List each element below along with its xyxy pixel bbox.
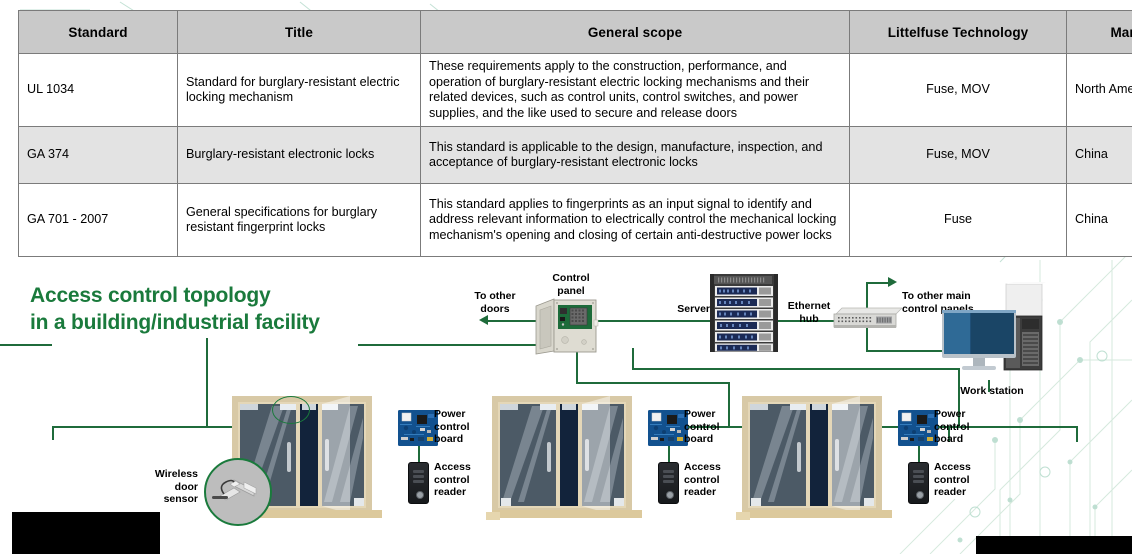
label-wireless-sensor-line1: Wireless	[132, 468, 198, 481]
access-control-reader-icon	[658, 462, 679, 504]
cell-standard: GA 701 - 2007	[19, 184, 178, 257]
wireless-door-sensor-magnifier	[204, 458, 272, 526]
wire-panel-bus-h1	[576, 382, 728, 384]
cell-standard: UL 1034	[19, 54, 178, 127]
wire-pcb1-to-reader	[418, 446, 420, 462]
label-to-other-doors-line2: doors	[460, 303, 530, 316]
label-control-panel-line1: Control	[536, 272, 606, 285]
bottom-left-black-bar	[12, 512, 160, 554]
access-control-reader-icon	[908, 462, 929, 504]
wire-left-edge-2	[358, 344, 544, 346]
column-header-general-scope: General scope	[421, 11, 850, 54]
door-assembly-2	[484, 394, 652, 522]
workstation-computer-icon	[940, 282, 1046, 382]
cell-scope: This standard is applicable to the desig…	[421, 127, 850, 184]
access-control-reader-icon	[408, 462, 429, 504]
label-reader3-line2: control	[934, 474, 994, 487]
bottom-right-black-bar	[976, 536, 1132, 554]
label-pcb3-line2: control	[934, 421, 994, 434]
access-control-topology-diagram: Access control topology in a building/in…	[0, 262, 1132, 554]
cell-title: Burglary-resistant electronic locks	[178, 127, 421, 184]
wire-door1-v	[206, 338, 208, 426]
cell-technology: Fuse, MOV	[850, 54, 1067, 127]
cell-market: North America	[1067, 54, 1132, 127]
standards-table-container: Standard Title General scope Littelfuse …	[18, 10, 1114, 257]
standards-table: Standard Title General scope Littelfuse …	[18, 10, 1132, 257]
wire-door3-to-pcb	[1076, 426, 1078, 442]
column-header-title: Title	[178, 11, 421, 54]
power-control-board-icon	[648, 410, 688, 446]
control-panel-device-icon	[532, 296, 602, 358]
cell-standard: GA 374	[19, 127, 178, 184]
table-row: GA 701 - 2007 General specifications for…	[19, 184, 1132, 257]
diagram-title: Access control topology in a building/in…	[30, 282, 400, 336]
ethernet-hub-icon	[830, 306, 902, 334]
cell-market: China	[1067, 184, 1132, 257]
label-pcb3-line1: Power	[934, 408, 994, 421]
cell-title: General specifications for burglary resi…	[178, 184, 421, 257]
diagram-title-line2: in a building/industrial facility	[30, 309, 400, 336]
wireless-door-sensor-icon	[206, 460, 266, 520]
label-wireless-door-sensor: Wireless door sensor	[132, 468, 198, 506]
wire-panel-to-server	[598, 320, 710, 322]
label-wireless-sensor-line2: door	[132, 481, 198, 494]
wire-hub-to-workstation	[866, 350, 948, 352]
cell-market: China	[1067, 127, 1132, 184]
door-assembly-3	[734, 394, 902, 522]
cell-technology: Fuse	[850, 184, 1067, 257]
table-row: GA 374 Burglary-resistant electronic loc…	[19, 127, 1132, 184]
wire-pcb2-to-reader	[668, 446, 670, 462]
wire-pcb3-to-reader	[918, 446, 920, 462]
label-reader3-line1: Access	[934, 461, 994, 474]
label-work-station: Work station	[950, 385, 1034, 398]
glass-door-icon	[484, 394, 652, 522]
label-to-other-doors: To other doors	[460, 290, 530, 315]
wire-door1-to-door	[52, 426, 54, 440]
power-control-board-icon	[398, 410, 438, 446]
label-access-control-reader-3: Access control reader	[934, 461, 994, 499]
door-lock-highlight-circle	[272, 396, 310, 424]
column-header-littelfuse-technology: Littelfuse Technology	[850, 11, 1067, 54]
wire-hub-to-arrow	[866, 282, 890, 284]
column-header-market: Market	[1067, 11, 1132, 54]
cell-scope: This standard applies to fingerprints as…	[421, 184, 850, 257]
cell-scope: These requirements apply to the construc…	[421, 54, 850, 127]
diagram-title-line1: Access control topology	[30, 282, 400, 309]
arrow-to-other-main-panels-icon	[888, 277, 897, 287]
column-header-standard: Standard	[19, 11, 178, 54]
server-rack-icon	[710, 274, 778, 352]
cell-technology: Fuse, MOV	[850, 127, 1067, 184]
table-header-row: Standard Title General scope Littelfuse …	[19, 11, 1132, 54]
wire-panel-bus-v2	[632, 348, 634, 368]
glass-door-icon	[734, 394, 902, 522]
arrow-to-other-doors-icon	[479, 315, 488, 325]
label-wireless-sensor-line3: sensor	[132, 493, 198, 506]
table-row: UL 1034 Standard for burglary-resistant …	[19, 54, 1132, 127]
label-pcb3-line3: board	[934, 433, 994, 446]
label-to-other-doors-line1: To other	[460, 290, 530, 303]
cell-title: Standard for burglary-resistant electric…	[178, 54, 421, 127]
label-reader3-line3: reader	[934, 486, 994, 499]
label-server: Server	[648, 303, 710, 316]
wire-door1-tap	[206, 338, 208, 344]
wire-left-edge	[0, 344, 52, 346]
label-power-control-board-3: Power control board	[934, 408, 994, 446]
label-control-panel: Control panel	[536, 272, 606, 297]
power-control-board-icon	[898, 410, 938, 446]
wire-panel-bus-h2	[632, 368, 960, 370]
slide-page: Standard Title General scope Littelfuse …	[0, 0, 1132, 554]
